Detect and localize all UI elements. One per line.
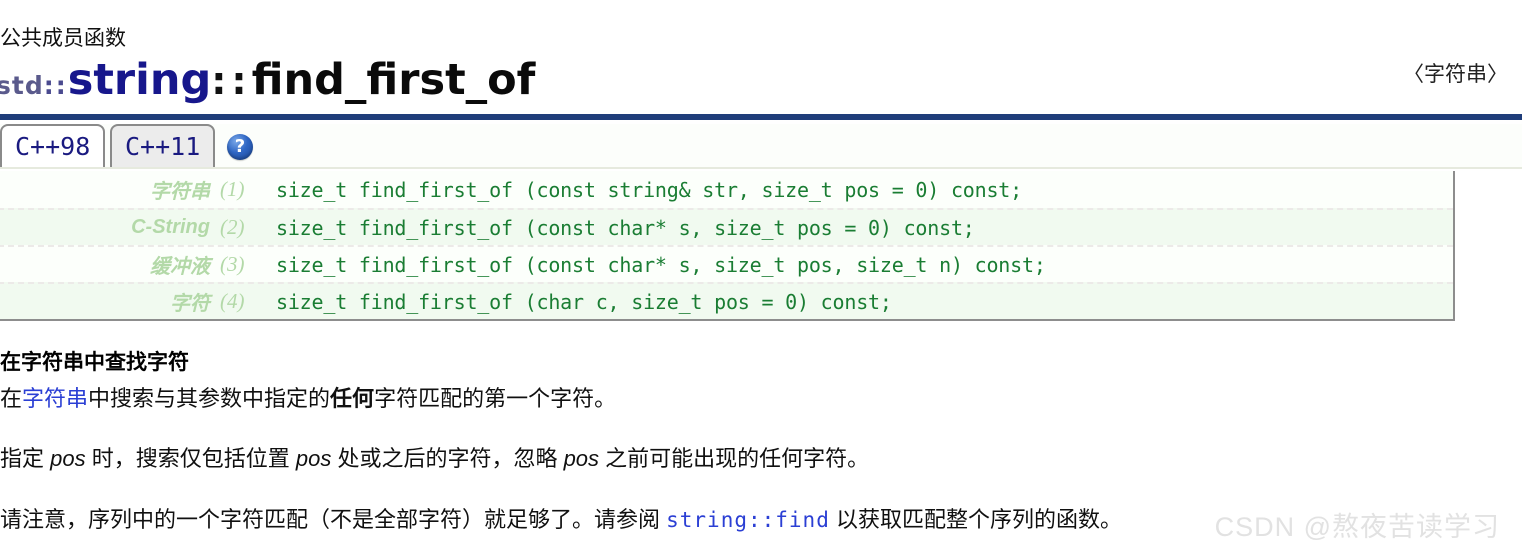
tab-cpp98[interactable]: C++98 [0,124,105,167]
paragraph2-param-2: pos [296,446,331,471]
description-paragraph-2: 指定 pos 时，搜索仅包括位置 pos 处或之后的字符，忽略 pos 之前可能… [0,445,869,474]
prototype-label: 缓冲液 [0,250,220,279]
prototype-label: 字符 [0,287,220,316]
paragraph1-text-3: 字符匹配的第一个字符。 [374,386,616,411]
prototype-number: (2) [220,215,276,240]
paragraph2-param-3: pos [564,446,599,471]
prototype-label: C-String [0,216,220,239]
title-function: find_first_of [252,59,536,102]
title-separator-1: :: [44,73,68,98]
paragraph1-text-2: 中搜索与其参数中指定的 [88,386,330,411]
prototype-row: 缓冲液 (3) size_t find_first_of (const char… [0,245,1453,282]
paragraph2-param-1: pos [50,446,85,471]
prototype-signature: size_t find_first_of (char c, size_t pos… [276,290,1453,314]
paragraph2-text-3: 处或之后的字符，忽略 [331,446,563,471]
prototype-row: 字符串 (1) size_t find_first_of (const stri… [0,171,1453,208]
description-heading: 在字符串中查找字符 [0,346,189,376]
paragraph2-text-4: 之前可能出现的任何字符。 [599,446,869,471]
tab-cpp11[interactable]: C++11 [110,124,215,167]
paragraph3-text-2: 以获取匹配整个序列的函数。 [830,507,1122,532]
header-divider [0,114,1522,120]
title-namespace: std [0,73,44,98]
paragraph1-text-1: 在 [0,386,22,411]
paragraph2-text-1: 指定 [0,446,50,471]
prototype-number: (3) [220,252,276,277]
prototype-signature: size_t find_first_of (const char* s, siz… [276,216,1453,240]
description-paragraph-3: 请注意，序列中的一个字符匹配（不是全部字符）就足够了。请参阅 string::f… [0,506,1122,535]
page-kicker: 公共成员函数 [0,26,126,51]
prototype-number: (1) [220,177,276,202]
standard-version-tabbar: C++98 C++11 ? [0,124,1522,169]
description-paragraph-1: 在字符串中搜索与其参数中指定的任何字符匹配的第一个字符。 [0,385,616,414]
prototype-row: C-String (2) size_t find_first_of (const… [0,208,1453,245]
help-question-icon[interactable]: ? [227,134,253,160]
prototype-signature: size_t find_first_of (const string& str,… [276,178,1453,202]
tabbar-underline [0,167,1522,169]
paragraph1-emphasis: 任何 [330,386,374,411]
title-class: string [68,59,212,102]
function-prototype-block: 字符串 (1) size_t find_first_of (const stri… [0,171,1455,321]
csdn-watermark: CSDN @熬夜苦读学习 [1215,505,1500,544]
string-find-link[interactable]: string::find [666,508,830,532]
prototype-row: 字符 (4) size_t find_first_of (char c, siz… [0,282,1453,319]
prototype-signature: size_t find_first_of (const char* s, siz… [276,253,1453,277]
string-link[interactable]: 字符串 [22,386,88,411]
page-title: std::string::find_first_of [0,59,1518,111]
header-library-tag: 〈字符串〉 [1403,58,1508,88]
paragraph2-text-2: 时，搜索仅包括位置 [86,446,296,471]
title-separator-2: :: [211,62,251,100]
prototype-number: (4) [220,289,276,314]
paragraph3-text-1: 请注意，序列中的一个字符匹配（不是全部字符）就足够了。请参阅 [0,507,666,532]
prototype-label: 字符串 [0,175,220,204]
